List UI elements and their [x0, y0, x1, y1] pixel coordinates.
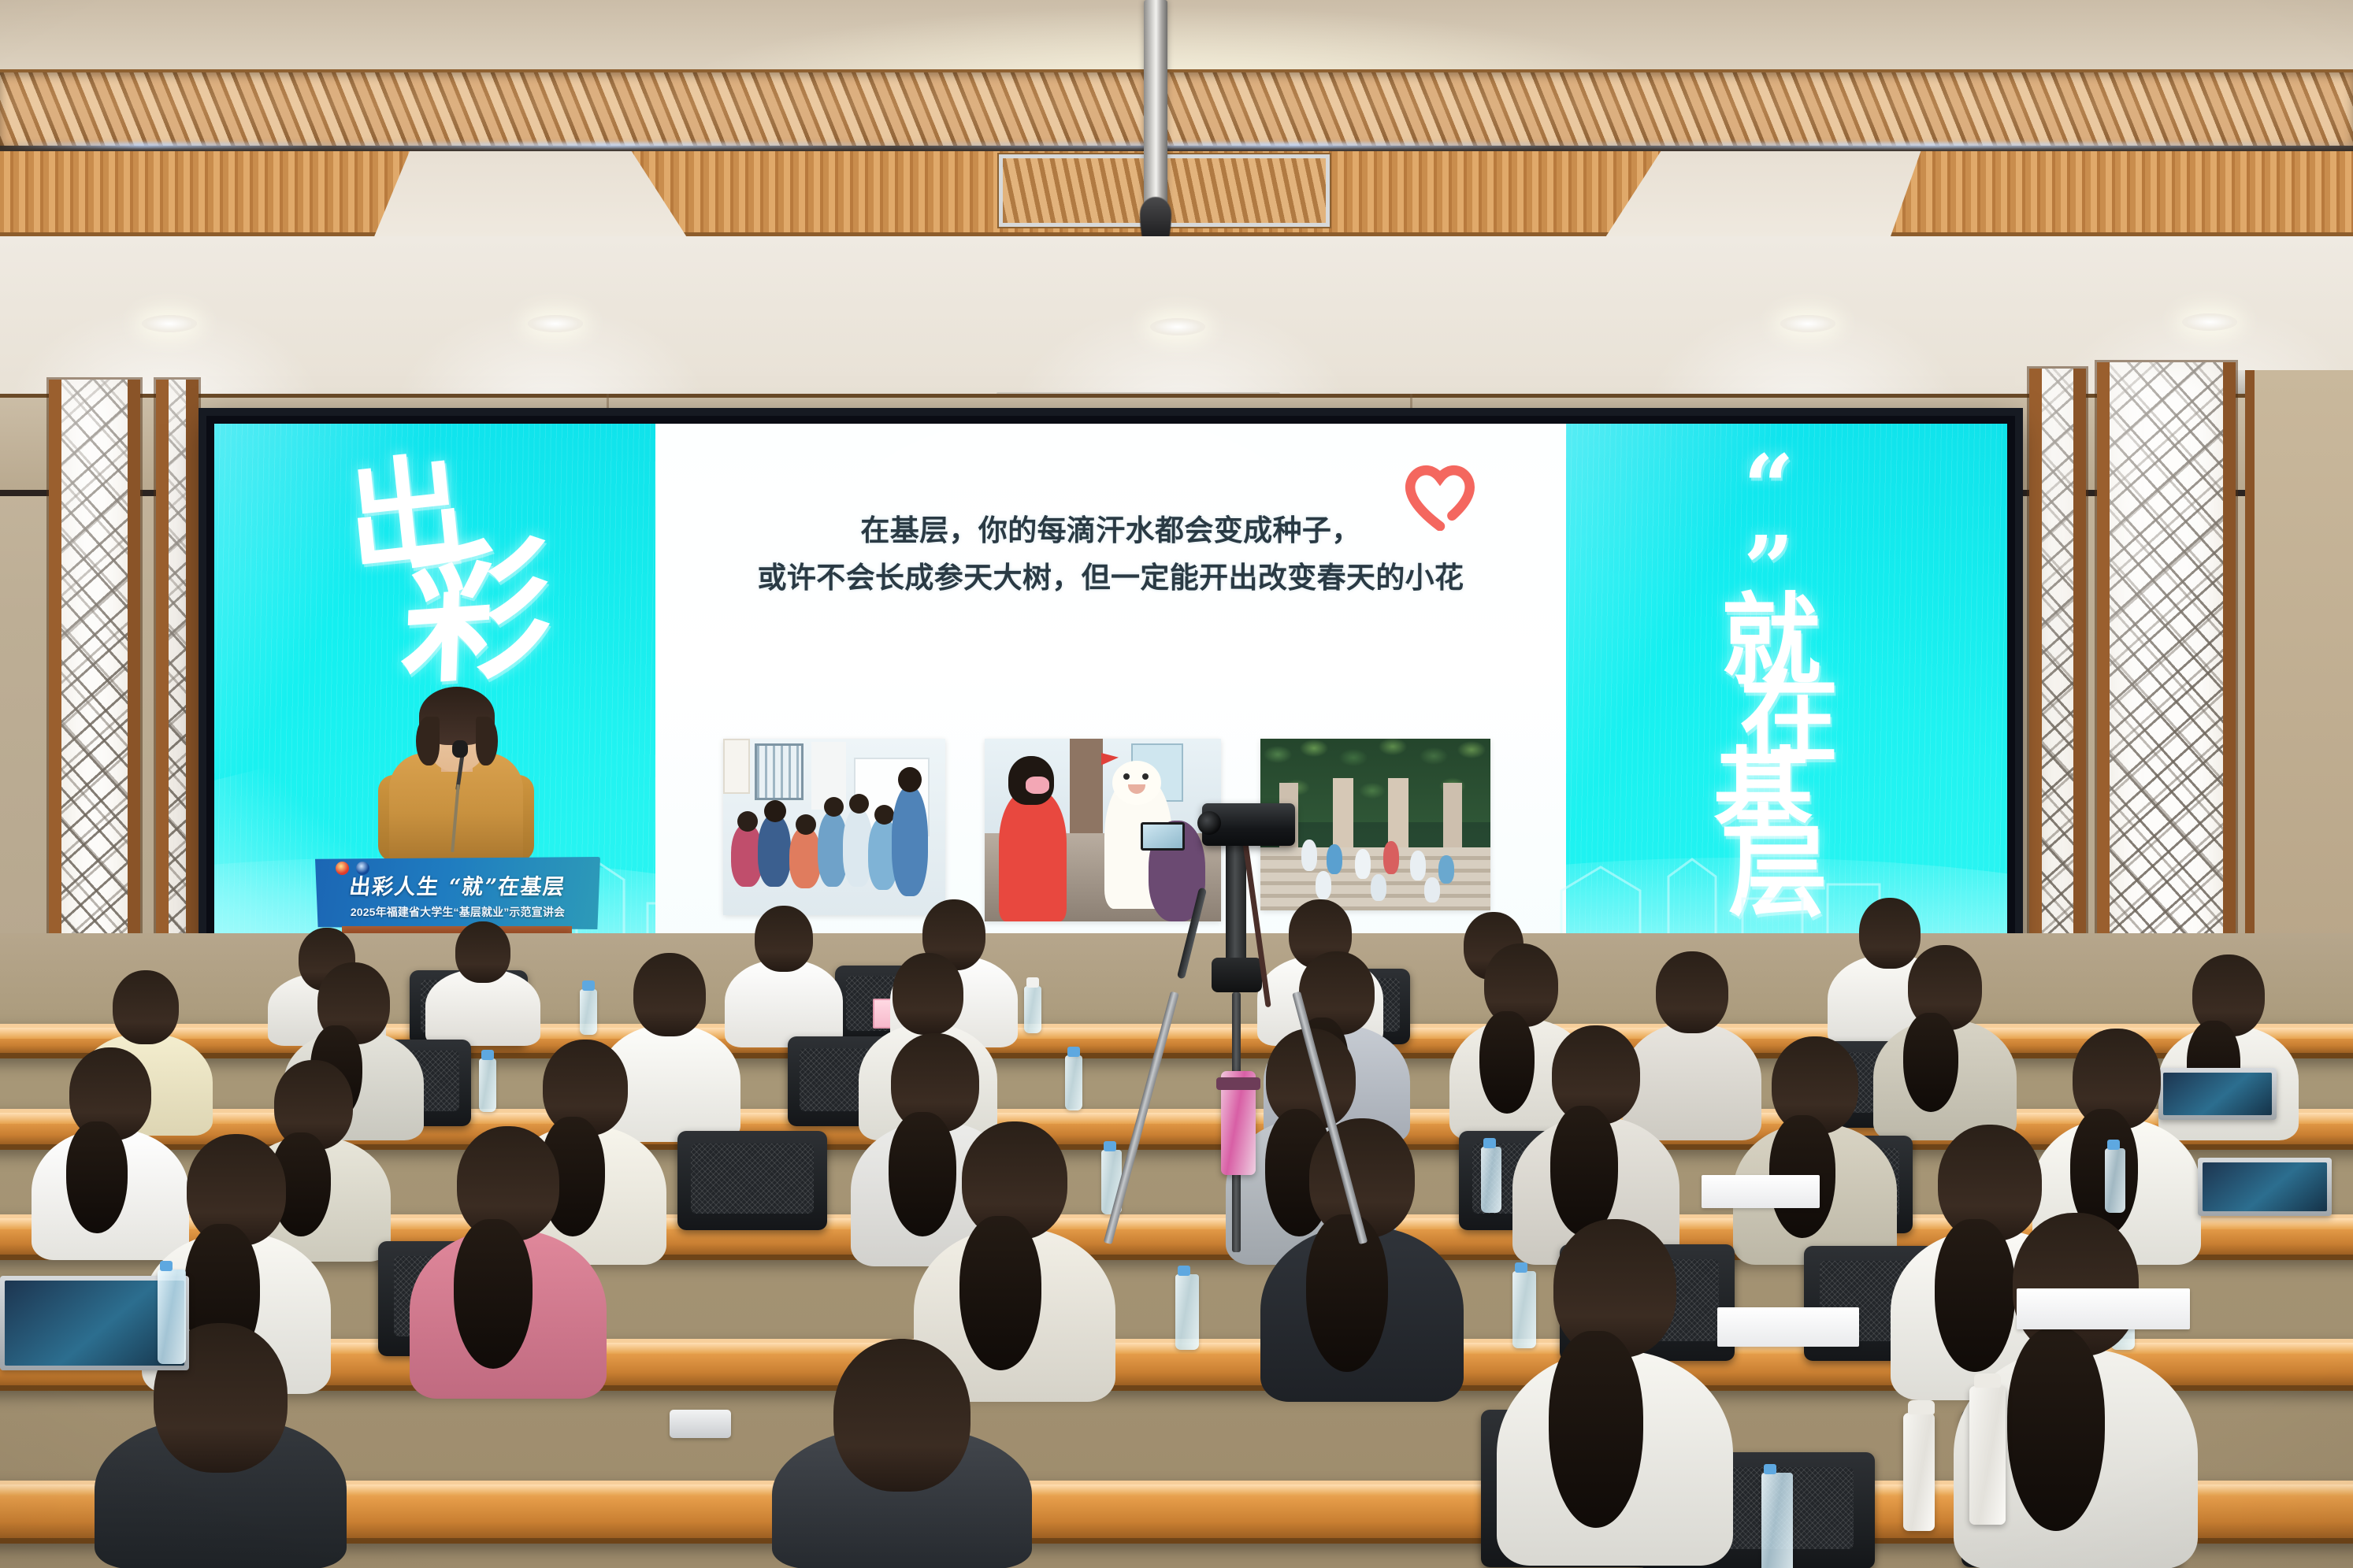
lattice-panel-right-1: [2029, 369, 2086, 1030]
chair[interactable]: [677, 1131, 827, 1230]
camera-flip-screen: [1141, 822, 1185, 851]
camera-icon[interactable]: [1202, 803, 1295, 846]
audience-member: [1733, 1036, 1897, 1265]
ceiling-wood-panel-left: [0, 151, 410, 236]
papers: [1717, 1307, 1859, 1347]
speaker-hair-side-left: [416, 717, 440, 765]
podium-banner-title: 出彩人生 “就”在基层: [315, 869, 600, 900]
downlight-5: [2182, 313, 2237, 331]
slide-line-2: 或许不会长成参天大树，但一定能开出改变春天的小花: [655, 554, 1566, 602]
slide-line-1: 在基层，你的每滴汗水都会变成种子，: [655, 507, 1566, 554]
presentation-slide: 在基层，你的每滴汗水都会变成种子， 或许不会长成参天大树，但一定能开出改变春天的…: [655, 424, 1566, 971]
water-bottle: [1761, 1473, 1793, 1568]
lattice-panel-left-1: [49, 380, 140, 1010]
bottle-strap: [1216, 1077, 1260, 1090]
pink-water-bottle: [1221, 1071, 1256, 1175]
water-bottle: [2105, 1148, 2125, 1213]
downlight-1: [142, 315, 197, 332]
lecture-hall-scene: 出 彩: [0, 0, 2353, 1568]
slide-photo-1: [723, 739, 945, 915]
water-bottle: [1175, 1274, 1199, 1350]
ceiling-pipe: [1144, 0, 1167, 211]
laptop[interactable]: [2198, 1158, 2332, 1216]
speaker-hair-side-right: [476, 717, 498, 765]
papers: [2017, 1288, 2190, 1329]
water-bottle: [580, 989, 597, 1035]
ceiling-wood-panel-right: [1891, 151, 2353, 236]
audience-member: [425, 921, 540, 1046]
podium-banner: 出彩人生 “就”在基层 2025年福建省大学生“基层就业”示范宣讲会: [315, 857, 600, 929]
slide-photo-strip: [723, 739, 1511, 921]
audience-member: [1497, 1219, 1733, 1566]
water-bottle: [1065, 1055, 1082, 1110]
camera-tripod[interactable]: [1164, 811, 1306, 1252]
ceiling-lattice-band: [0, 69, 2353, 151]
water-bottle: [158, 1270, 186, 1364]
audience-member: [772, 1339, 1032, 1568]
audience-member: [725, 906, 843, 1047]
papers: [1702, 1175, 1820, 1208]
downlight-4: [1780, 315, 1835, 332]
screen-right-panel: “” 就 在 基 层: [1566, 424, 2007, 971]
thermos: [1969, 1386, 2006, 1525]
audience-member: [410, 1126, 607, 1399]
microphone-icon: [452, 740, 468, 758]
calligraphy-char-cai: 彩: [399, 537, 585, 688]
slide-text-block: 在基层，你的每滴汗水都会变成种子， 或许不会长成参天大树，但一定能开出改变春天的…: [655, 507, 1566, 602]
tripod-head: [1212, 958, 1262, 992]
smartphone[interactable]: [670, 1410, 731, 1438]
water-bottle: [1024, 986, 1041, 1033]
downlight-3: [1150, 318, 1205, 335]
water-bottle: [1481, 1147, 1501, 1213]
calligraphy-left: 出 彩: [331, 454, 583, 681]
thermos: [1903, 1413, 1935, 1531]
downlight-2: [528, 315, 583, 332]
lattice-panel-left-2: [156, 380, 199, 1010]
podium-banner-subtitle: 2025年福建省大学生“基层就业”示范宣讲会: [315, 904, 600, 920]
tripod-pan-handle[interactable]: [1177, 888, 1207, 980]
water-bottle: [479, 1058, 496, 1112]
camera-lens-icon: [1197, 811, 1221, 835]
